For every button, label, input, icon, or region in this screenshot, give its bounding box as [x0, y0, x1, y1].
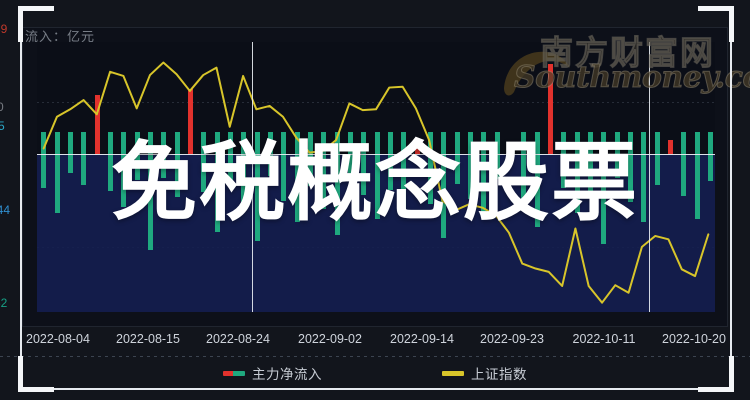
- x-axis: 2022-08-042022-08-152022-08-242022-09-02…: [0, 332, 750, 354]
- x-axis-label: 2022-08-04: [26, 332, 90, 346]
- chart-legend: 主力净流入上证指数: [0, 358, 750, 388]
- page-title: 免税概念股票: [0, 140, 750, 226]
- x-axis-label: 2022-09-02: [298, 332, 362, 346]
- y-axis-label-top: 39: [0, 22, 7, 36]
- y-axis-label-62: 62: [0, 296, 7, 310]
- frame-edge-right: [730, 10, 732, 382]
- x-axis-label: 2022-10-20: [662, 332, 726, 346]
- x-axis-label: 2022-08-24: [206, 332, 270, 346]
- y-axis-label-zero: 0: [0, 100, 4, 114]
- legend-label: 上证指数: [471, 363, 527, 383]
- legend-label: 主力净流入: [252, 363, 322, 383]
- screenshot-canvas: 流入：亿元 39 0 .25 644 62 2022-08-042022-08-…: [0, 0, 750, 400]
- frame-edge-left: [20, 10, 22, 382]
- x-axis-label: 2022-09-14: [390, 332, 454, 346]
- x-axis-rule: [0, 356, 750, 357]
- legend-swatch-icon: [223, 371, 245, 376]
- y-axis-label-25: .25: [0, 119, 5, 133]
- frame-edge-bottom: [20, 388, 732, 390]
- x-axis-label: 2022-09-23: [480, 332, 544, 346]
- x-axis-label: 2022-08-15: [116, 332, 180, 346]
- x-axis-label: 2022-10-11: [572, 332, 635, 346]
- legend-item-index[interactable]: 上证指数: [442, 363, 527, 383]
- legend-item-flow[interactable]: 主力净流入: [223, 363, 322, 383]
- legend-swatch-icon: [442, 371, 464, 376]
